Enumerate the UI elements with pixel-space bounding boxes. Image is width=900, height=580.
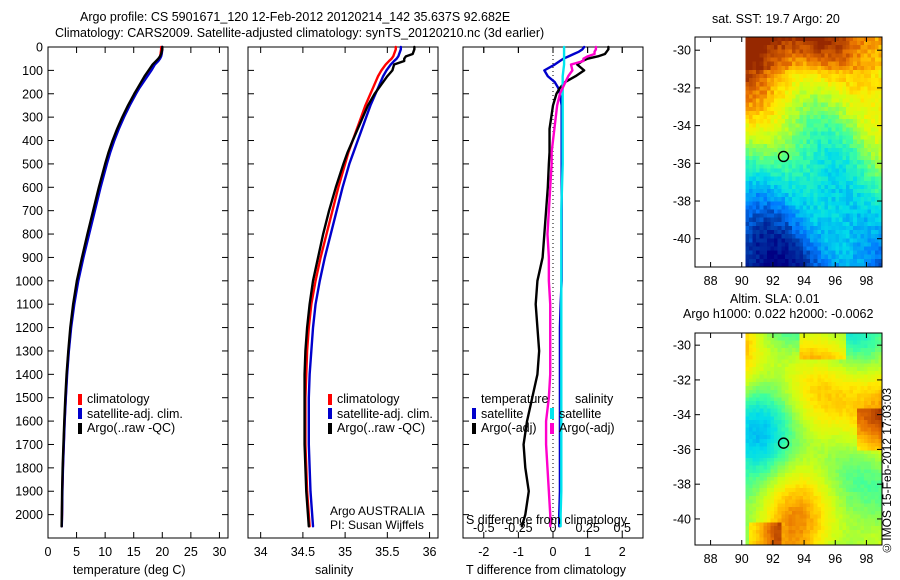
legend-item: satellite-adj. clim. (78, 407, 183, 422)
svg-text:35: 35 (338, 545, 352, 559)
difference-xlabel-top: S difference from climatology (466, 513, 627, 527)
svg-text:5: 5 (73, 545, 80, 559)
sst-map-panel: 889092949698-30-32-34-36-38-40 (660, 0, 900, 300)
svg-text:1200: 1200 (15, 321, 43, 335)
sla-map-panel: 889092949698-30-32-34-36-38-40 (660, 300, 900, 580)
svg-text:98: 98 (859, 274, 873, 288)
legend-group-salinity: salinity satellite Argo(-adj) (550, 392, 630, 436)
temperature-panel: 0100200300400500600700800900100011001200… (0, 0, 240, 580)
svg-text:88: 88 (704, 274, 718, 288)
legend-item: satellite (472, 407, 550, 422)
svg-text:-32: -32 (673, 81, 691, 95)
sla-map-plot: 889092949698-30-32-34-36-38-40 (660, 300, 900, 580)
svg-text:92: 92 (766, 274, 780, 288)
difference-legend: temperature satellite Argo(-adj) salinit… (472, 392, 630, 436)
legend-item: Argo(..raw -QC) (78, 421, 183, 436)
svg-text:-32: -32 (673, 373, 691, 387)
svg-text:1500: 1500 (15, 391, 43, 405)
legend-label: satellite (559, 407, 601, 422)
svg-text:2: 2 (619, 545, 626, 559)
svg-text:36: 36 (423, 545, 437, 559)
salinity-panel: 3434.53535.536 (240, 0, 455, 580)
legend-group-label: salinity (575, 392, 613, 407)
svg-text:-34: -34 (673, 408, 691, 422)
salinity-plot: 3434.53535.536 (240, 0, 455, 580)
svg-text:600: 600 (22, 181, 43, 195)
svg-text:90: 90 (735, 552, 749, 566)
legend-swatch-sal-satellite (550, 408, 554, 419)
svg-text:1100: 1100 (16, 298, 43, 312)
legend-item: Argo(..raw -QC) (328, 421, 433, 436)
svg-text:96: 96 (828, 552, 842, 566)
legend-label: Argo(-adj) (559, 421, 615, 436)
svg-text:-38: -38 (673, 195, 691, 209)
difference-plot: -2-1012-0.5-0.2500.250.5 (455, 0, 660, 580)
legend-swatch-temp-argo (472, 423, 476, 434)
legend-item: satellite (550, 407, 630, 422)
legend-label: Argo(-adj) (481, 421, 537, 436)
svg-text:-40: -40 (673, 512, 691, 526)
svg-text:90: 90 (735, 274, 749, 288)
svg-text:800: 800 (22, 228, 43, 242)
svg-text:1800: 1800 (15, 461, 43, 475)
temperature-plot: 0100200300400500600700800900100011001200… (0, 0, 240, 580)
svg-text:400: 400 (22, 134, 43, 148)
legend-swatch-satellite-adj (328, 408, 332, 419)
svg-text:34.5: 34.5 (291, 545, 315, 559)
difference-panel: -2-1012-0.5-0.2500.250.5 (455, 0, 660, 580)
legend-item: Argo(-adj) (472, 421, 550, 436)
legend-label: Argo(..raw -QC) (337, 421, 425, 436)
svg-text:-36: -36 (673, 443, 691, 457)
svg-text:92: 92 (766, 552, 780, 566)
pi-label: PI: Susan Wijffels (330, 518, 424, 532)
svg-text:30: 30 (212, 545, 226, 559)
imos-credit: ©IMOS 15-Feb-2012 17:03:03 (880, 388, 894, 555)
svg-text:700: 700 (22, 204, 43, 218)
svg-text:10: 10 (98, 545, 112, 559)
legend-swatch-argo-raw (78, 423, 82, 434)
svg-text:200: 200 (22, 87, 43, 101)
svg-text:900: 900 (22, 251, 43, 265)
legend-swatch-argo-raw (328, 423, 332, 434)
svg-text:-2: -2 (478, 545, 489, 559)
sst-map-plot: 889092949698-30-32-34-36-38-40 (660, 0, 900, 300)
agency-label: Argo AUSTRALIA (330, 504, 425, 518)
legend-group-label: temperature (481, 392, 548, 407)
svg-text:1600: 1600 (15, 415, 43, 429)
legend-header: temperature (472, 392, 550, 407)
svg-text:-40: -40 (673, 232, 691, 246)
legend-label: satellite-adj. clim. (337, 407, 433, 422)
legend-group-temperature: temperature satellite Argo(-adj) (472, 392, 550, 436)
legend-swatch-climatology (328, 394, 332, 405)
legend-item: satellite-adj. clim. (328, 407, 433, 422)
legend-label: climatology (87, 392, 150, 407)
legend-item: climatology (328, 392, 433, 407)
svg-text:2000: 2000 (15, 508, 43, 522)
legend-header: salinity (550, 392, 630, 407)
svg-text:0: 0 (550, 545, 557, 559)
temperature-xlabel: temperature (deg C) (73, 563, 186, 577)
svg-text:0: 0 (45, 545, 52, 559)
legend-label: satellite (481, 407, 523, 422)
svg-text:500: 500 (22, 157, 43, 171)
legend-label: Argo(..raw -QC) (87, 421, 175, 436)
temperature-legend: climatology satellite-adj. clim. Argo(..… (78, 392, 183, 436)
svg-text:300: 300 (22, 111, 43, 125)
svg-text:98: 98 (859, 552, 873, 566)
svg-text:-38: -38 (673, 478, 691, 492)
svg-text:-30: -30 (673, 44, 691, 58)
svg-text:0: 0 (36, 41, 43, 55)
svg-text:35.5: 35.5 (375, 545, 399, 559)
svg-text:94: 94 (797, 552, 811, 566)
svg-text:88: 88 (704, 552, 718, 566)
salinity-xlabel: salinity (315, 563, 353, 577)
svg-text:20: 20 (155, 545, 169, 559)
svg-text:1: 1 (584, 545, 591, 559)
svg-text:-30: -30 (673, 339, 691, 353)
svg-text:1900: 1900 (15, 485, 43, 499)
svg-text:1400: 1400 (15, 368, 43, 382)
legend-swatch-satellite-adj (78, 408, 82, 419)
svg-text:1700: 1700 (15, 438, 43, 452)
svg-text:1300: 1300 (15, 344, 43, 358)
legend-item: Argo(-adj) (550, 421, 630, 436)
legend-item: climatology (78, 392, 183, 407)
svg-text:25: 25 (184, 545, 198, 559)
svg-text:-36: -36 (673, 157, 691, 171)
legend-swatch-sal-argo (550, 423, 554, 434)
legend-swatch-climatology (78, 394, 82, 405)
legend-label: satellite-adj. clim. (87, 407, 183, 422)
salinity-legend: climatology satellite-adj. clim. Argo(..… (328, 392, 433, 436)
svg-text:15: 15 (127, 545, 141, 559)
difference-xlabel-bottom: T difference from climatology (466, 563, 626, 577)
svg-text:-34: -34 (673, 119, 691, 133)
svg-text:100: 100 (22, 64, 43, 78)
svg-text:96: 96 (828, 274, 842, 288)
legend-label: climatology (337, 392, 400, 407)
svg-text:94: 94 (797, 274, 811, 288)
svg-text:-1: -1 (513, 545, 524, 559)
legend-swatch-temp-satellite (472, 408, 476, 419)
svg-text:34: 34 (254, 545, 268, 559)
svg-text:1000: 1000 (15, 274, 43, 288)
